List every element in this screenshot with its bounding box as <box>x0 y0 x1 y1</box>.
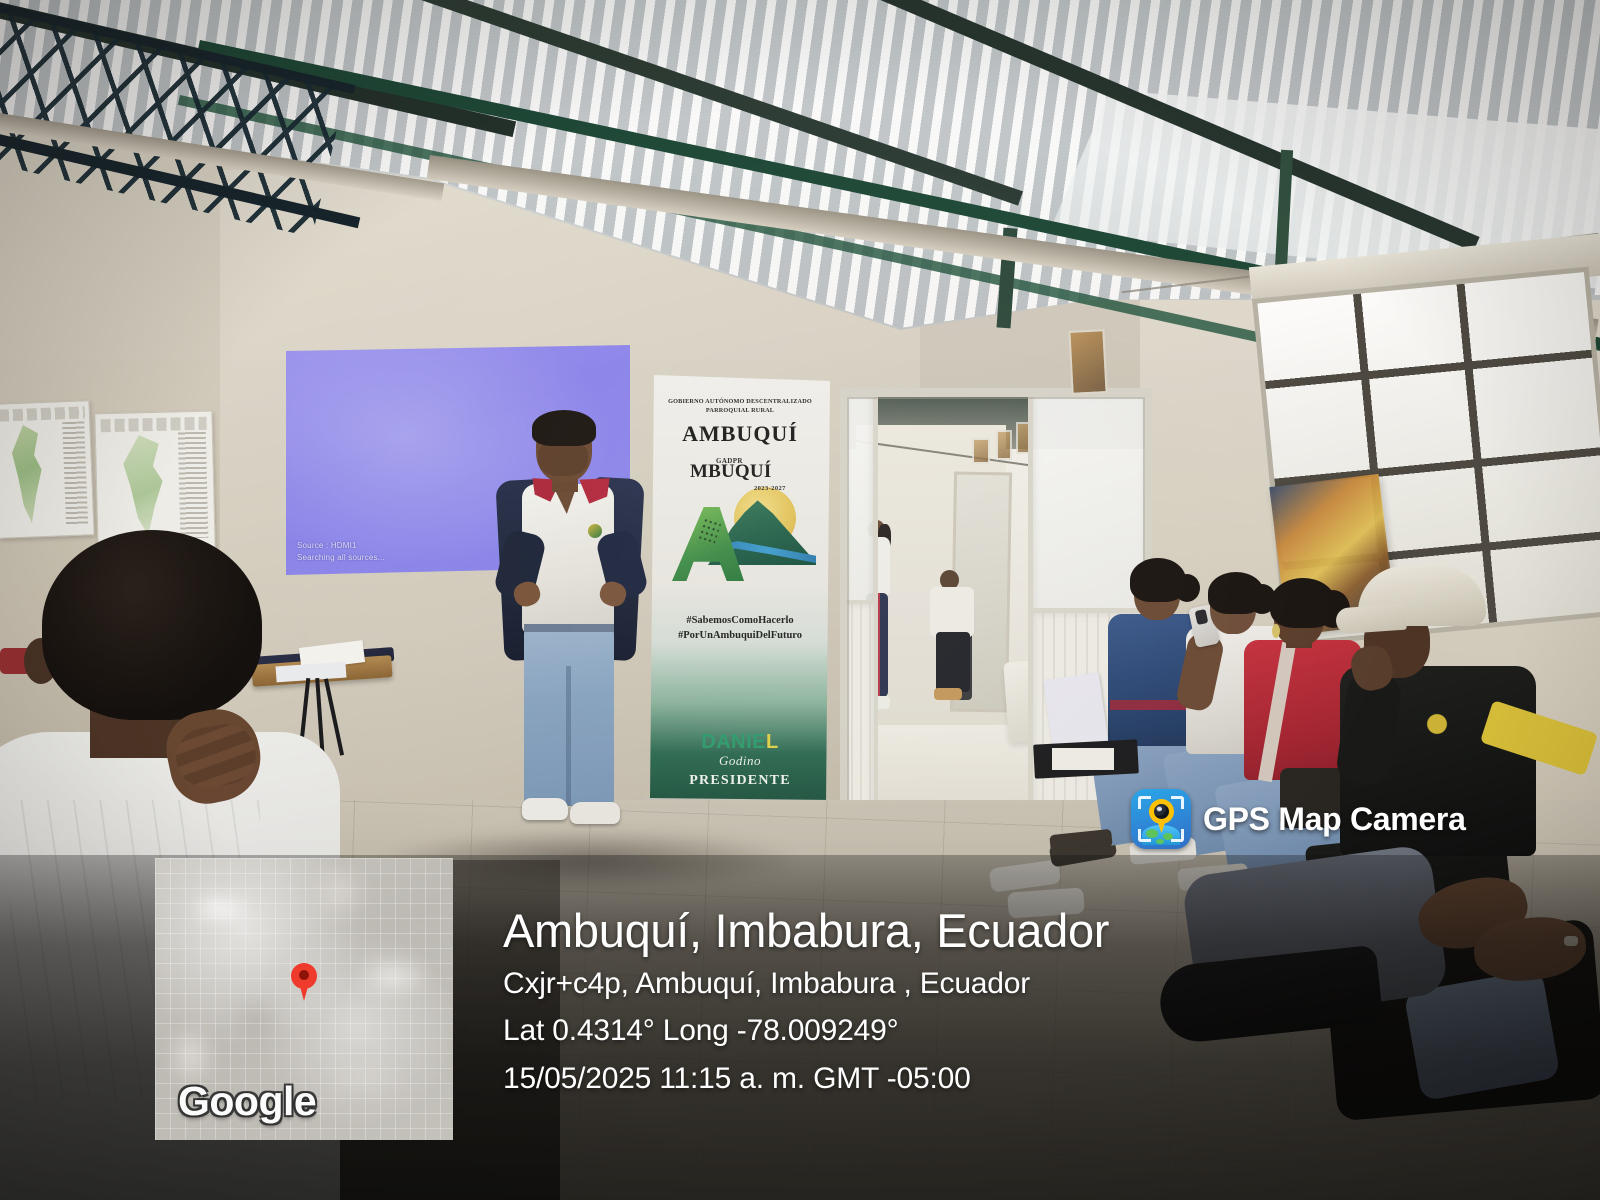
presenter-person <box>478 414 668 864</box>
earring <box>1272 624 1280 638</box>
pin-center-dot <box>299 970 309 980</box>
wall-map-poster <box>0 400 95 539</box>
gps-map-camera-icon <box>1131 789 1191 849</box>
banner-hashtag-1: #SabemosComoHacerlo <box>686 615 793 626</box>
gps-info-block: Ambuquí, Imbabura, Ecuador Cxjr+c4p, Amb… <box>503 905 1503 1100</box>
poster-header <box>100 417 207 432</box>
banner-gov-line-2: PARROQUIAL RURAL <box>706 407 774 414</box>
gps-app-badge: GPS Map Camera <box>1131 789 1466 849</box>
gps-address: Cxjr+c4p, Ambuquí, Imbabura , Ecuador <box>503 963 1503 1006</box>
roll-up-banner: GOBIERNO AUTÓNOMO DESCENTRALIZADO PARROQ… <box>650 375 830 825</box>
banner-face: GOBIERNO AUTÓNOMO DESCENTRALIZADO PARROQ… <box>650 375 830 805</box>
banner-candidate-surname: Godino <box>656 753 824 769</box>
waistband <box>524 624 614 632</box>
viewfinder-corner <box>1138 829 1151 842</box>
wall-artwork-small <box>1068 329 1107 395</box>
cap-brim <box>1335 604 1407 635</box>
hair <box>532 410 596 446</box>
gps-timestamp: 15/05/2025 11:15 a. m. GMT -05:00 <box>503 1058 1503 1101</box>
banner-candidate-name: DANIEL <box>656 731 824 754</box>
banner-logo-name: MBUQUÍ <box>690 461 822 483</box>
left-sneaker <box>522 798 568 820</box>
ring <box>1564 936 1578 946</box>
jacket-logo <box>1420 706 1454 742</box>
banner-hashtags: #SabemosComoHacerlo #PorUnAmbuquiDelFutu… <box>656 613 824 643</box>
poster-map-shape <box>7 424 54 524</box>
camera-lens-icon <box>1154 804 1169 819</box>
banner-government-text: GOBIERNO AUTÓNOMO DESCENTRALIZADO PARROQ… <box>656 397 824 416</box>
hair <box>42 530 262 720</box>
candidate-name-accent-letter: L <box>766 731 779 753</box>
pin-point <box>298 979 310 1001</box>
right-sneaker <box>570 802 620 824</box>
poster-header <box>0 407 85 422</box>
location-pin-icon <box>291 963 317 1001</box>
lens-highlight <box>1157 807 1162 811</box>
gps-app-name: GPS Map Camera <box>1203 801 1466 838</box>
candidate-name-main: DANIE <box>701 731 766 753</box>
gps-location-title: Ambuquí, Imbabura, Ecuador <box>503 905 1503 958</box>
banner-parish-name: AMBUQUÍ <box>656 421 824 447</box>
viewfinder-corner <box>1171 829 1184 842</box>
shoe <box>989 859 1062 893</box>
viewfinder-corner <box>1138 796 1151 809</box>
banner-logo-years: 2023-2027 <box>754 485 786 492</box>
gps-coordinates: Lat 0.4314° Long -78.009249° <box>503 1010 1503 1053</box>
banner-hashtag-2: #PorUnAmbuquiDelFuturo <box>678 630 802 641</box>
viewfinder-corner <box>1171 796 1184 809</box>
jeans-inseam <box>566 666 571 806</box>
poster-legend <box>62 421 89 526</box>
google-watermark: Google <box>178 1078 316 1125</box>
binder-label <box>1052 748 1114 770</box>
banner-candidate-role: PRESIDENTE <box>656 773 824 789</box>
shirt-logo-badge <box>588 524 602 538</box>
photograph: Source : HDMI1 Searching all sources... <box>0 0 1600 1200</box>
banner-gov-line-1: GOBIERNO AUTÓNOMO DESCENTRALIZADO <box>668 398 812 405</box>
ambuqui-logo <box>666 485 816 590</box>
